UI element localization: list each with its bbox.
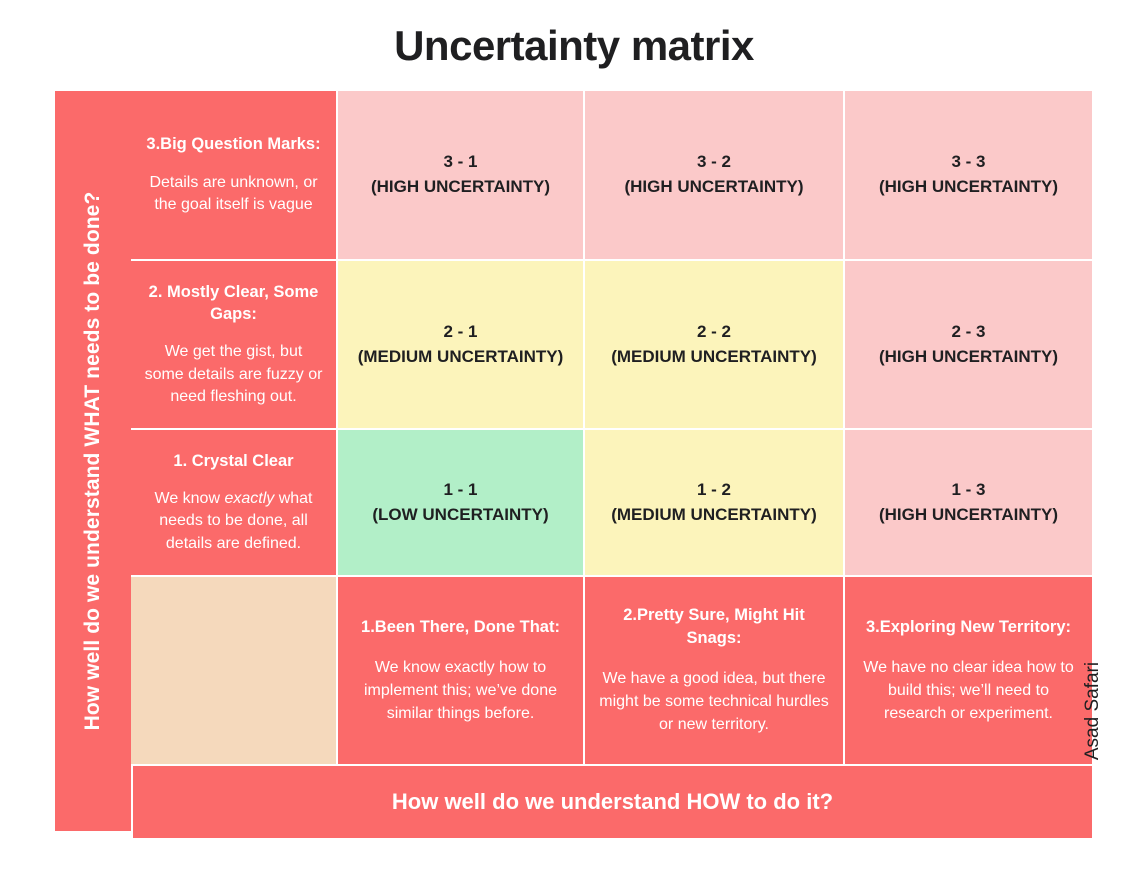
matrix-cell-2-2[interactable]: 2 - 2 (MEDIUM UNCERTAINTY) [585, 261, 843, 428]
matrix-cell-2-1-code: 2 - 1 [443, 320, 477, 345]
matrix-cell-2-2-code: 2 - 2 [697, 320, 731, 345]
matrix-cell-1-2-code: 1 - 2 [697, 478, 731, 503]
matrix-cell-1-2[interactable]: 1 - 2 (MEDIUM UNCERTAINTY) [585, 430, 843, 575]
y-axis-label: How well do we understand WHAT needs to … [55, 91, 131, 831]
matrix-cell-2-3-code: 2 - 3 [951, 320, 985, 345]
matrix-corner-cell [131, 577, 336, 764]
column-header-1-desc: We know exactly how to implement this; w… [350, 656, 571, 726]
matrix-cell-2-3[interactable]: 2 - 3 (HIGH UNCERTAINTY) [845, 261, 1092, 428]
column-header-2-title: 2.Pretty Sure, Might Hit Snags: [597, 604, 831, 649]
author-credit: Asad Safari [1044, 700, 1142, 722]
matrix-cell-2-1-level: (MEDIUM UNCERTAINTY) [358, 345, 564, 370]
row-header-1: 1. Crystal Clear We know exactly what ne… [131, 430, 336, 575]
column-header-1-title: 1.Been There, Done That: [361, 616, 560, 638]
y-axis-label-text: How well do we understand WHAT needs to … [81, 192, 105, 731]
row-header-3-desc: Details are unknown, or the goal itself … [143, 172, 324, 217]
author-credit-text: Asad Safari [1082, 662, 1104, 760]
matrix-grid: 3.Big Question Marks: Details are unknow… [131, 91, 1092, 764]
column-header-1: 1.Been There, Done That: We know exactly… [338, 577, 583, 764]
row-header-1-desc-emphasis: exactly [224, 490, 274, 507]
matrix-cell-3-2-level: (HIGH UNCERTAINTY) [624, 175, 803, 200]
row-header-2: 2. Mostly Clear, Some Gaps: We get the g… [131, 261, 336, 428]
row-header-1-desc-pre: We know [155, 490, 225, 507]
column-header-3: 3.Exploring New Territory: We have no cl… [845, 577, 1092, 764]
column-header-2-desc: We have a good idea, but there might be … [597, 667, 831, 737]
row-header-1-desc: We know exactly what needs to be done, a… [143, 488, 324, 555]
column-header-2: 2.Pretty Sure, Might Hit Snags: We have … [585, 577, 843, 764]
matrix-cell-3-1-level: (HIGH UNCERTAINTY) [371, 175, 550, 200]
matrix-grid-wrapper: 3.Big Question Marks: Details are unknow… [131, 91, 1092, 831]
matrix-cell-1-3-code: 1 - 3 [951, 478, 985, 503]
matrix-cell-1-1-level: (LOW UNCERTAINTY) [372, 503, 548, 528]
page-title: Uncertainty matrix [0, 22, 1148, 70]
row-header-2-desc: We get the gist, but some details are fu… [143, 341, 324, 408]
row-header-3-title: 3.Big Question Marks: [146, 133, 320, 155]
row-header-2-title: 2. Mostly Clear, Some Gaps: [143, 281, 324, 326]
x-axis-label-text: How well do we understand HOW to do it? [392, 789, 833, 815]
matrix-cell-1-2-level: (MEDIUM UNCERTAINTY) [611, 503, 817, 528]
column-header-3-title: 3.Exploring New Territory: [866, 616, 1071, 638]
matrix-cell-1-3-level: (HIGH UNCERTAINTY) [879, 503, 1058, 528]
matrix-cell-3-2-code: 3 - 2 [697, 150, 731, 175]
matrix-cell-3-2[interactable]: 3 - 2 (HIGH UNCERTAINTY) [585, 91, 843, 259]
matrix-cell-3-3-code: 3 - 3 [951, 150, 985, 175]
matrix-cell-2-1[interactable]: 2 - 1 (MEDIUM UNCERTAINTY) [338, 261, 583, 428]
row-header-3: 3.Big Question Marks: Details are unknow… [131, 91, 336, 259]
matrix-cell-2-3-level: (HIGH UNCERTAINTY) [879, 345, 1058, 370]
matrix-cell-2-2-level: (MEDIUM UNCERTAINTY) [611, 345, 817, 370]
row-header-1-title: 1. Crystal Clear [173, 450, 293, 472]
matrix-cell-1-3[interactable]: 1 - 3 (HIGH UNCERTAINTY) [845, 430, 1092, 575]
matrix-cell-3-3-level: (HIGH UNCERTAINTY) [879, 175, 1058, 200]
matrix-cell-3-1[interactable]: 3 - 1 (HIGH UNCERTAINTY) [338, 91, 583, 259]
x-axis-label: How well do we understand HOW to do it? [133, 766, 1092, 838]
matrix-cell-1-1[interactable]: 1 - 1 (LOW UNCERTAINTY) [338, 430, 583, 575]
matrix-cell-3-3[interactable]: 3 - 3 (HIGH UNCERTAINTY) [845, 91, 1092, 259]
matrix-cell-3-1-code: 3 - 1 [443, 150, 477, 175]
matrix-cell-1-1-code: 1 - 1 [443, 478, 477, 503]
uncertainty-matrix: How well do we understand WHAT needs to … [55, 91, 1086, 831]
